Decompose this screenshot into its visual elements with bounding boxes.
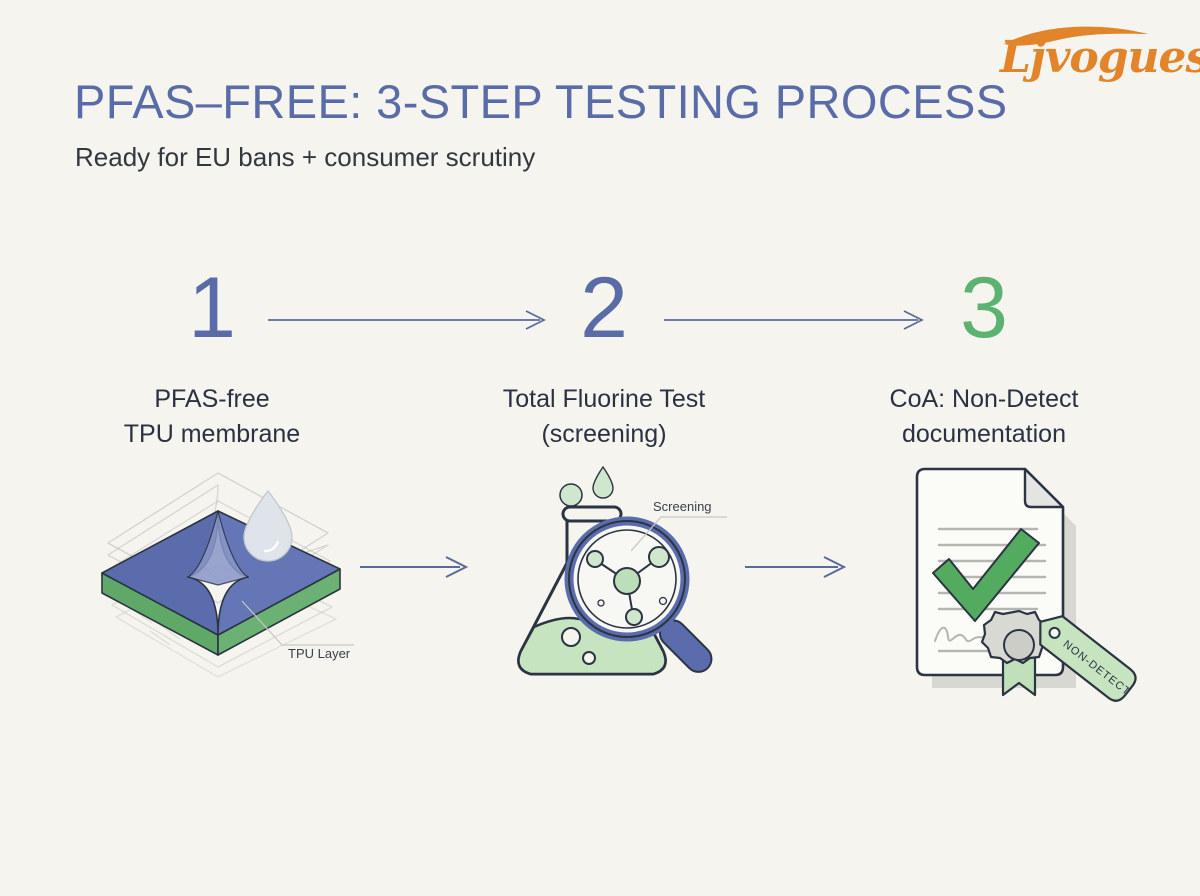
vapor-droplet-icon xyxy=(593,467,613,498)
screening-label: Screening xyxy=(653,499,712,514)
brand-logo: Ljvogues xyxy=(996,18,1176,84)
certificate-document-illustration: NON-DETECT xyxy=(885,455,1150,705)
certificate-document-icon: NON-DETECT xyxy=(917,469,1141,706)
logo-wordmark: Ljvogues xyxy=(998,32,1200,83)
page-fold-corner xyxy=(1025,469,1063,507)
flask-magnifier-illustration: Screening xyxy=(505,455,735,695)
layered-membrane-illustration: TPU Layer xyxy=(92,455,392,685)
mid-arrow-1-icon xyxy=(360,555,472,579)
mid-arrow-2-icon xyxy=(745,555,850,579)
page-subtitle: Ready for EU bans + consumer scrutiny xyxy=(75,142,535,173)
step-3: 3 CoA: Non-Detect documentation xyxy=(824,268,1144,451)
page-title: PFAS–FREE: 3-STEP TESTING PROCESS xyxy=(74,74,1007,129)
illustrations-row: TPU Layer xyxy=(0,455,1200,715)
step-3-label: CoA: Non-Detect documentation xyxy=(824,382,1144,451)
step-2: 2 Total Fluorine Test (screening) xyxy=(444,268,764,451)
tpu-layer-label: TPU Layer xyxy=(288,646,351,661)
seal-rosette-icon xyxy=(982,611,1048,663)
step-2-label: Total Fluorine Test (screening) xyxy=(444,382,764,451)
flask-magnifier-icon: Screening xyxy=(519,467,727,677)
step-1: 1 PFAS-free TPU membrane xyxy=(52,268,372,451)
layered-membrane-icon: TPU Layer xyxy=(102,473,354,677)
step-1-label: PFAS-free TPU membrane xyxy=(52,382,372,451)
step-3-number: 3 xyxy=(824,268,1144,360)
infographic-canvas: Ljvogues PFAS–FREE: 3-STEP TESTING PROCE… xyxy=(0,0,1200,896)
steps-row: 1 PFAS-free TPU membrane 2 Total Fluorin… xyxy=(0,268,1200,458)
